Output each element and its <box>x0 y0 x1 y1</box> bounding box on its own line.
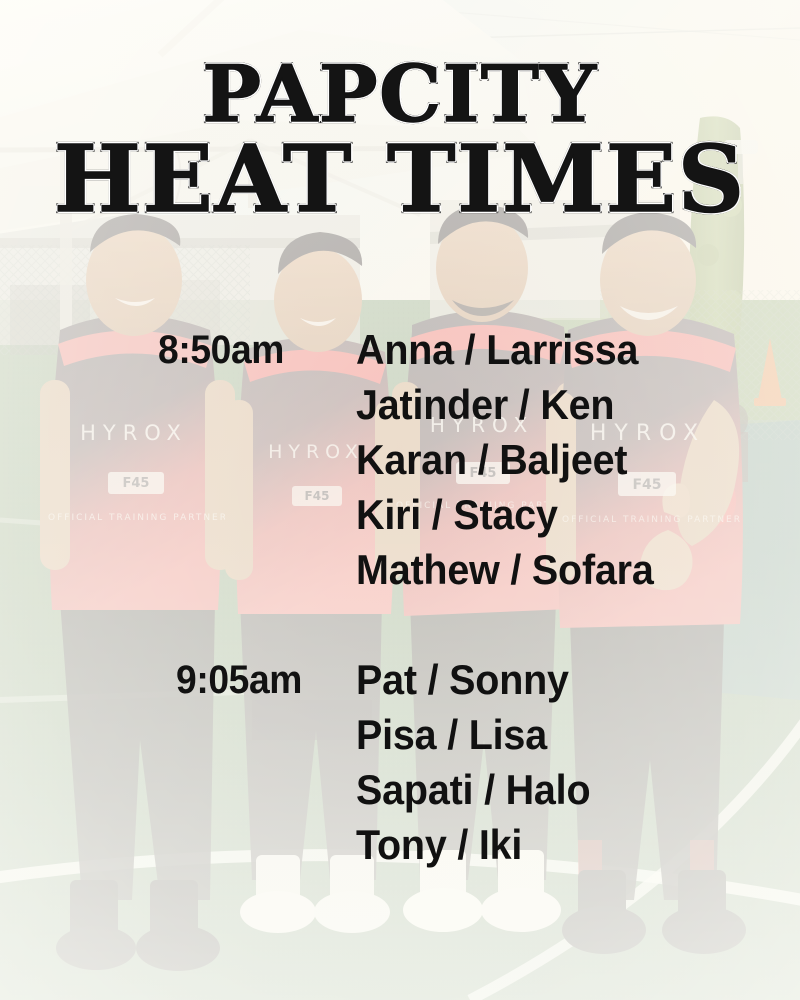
heat-1-time: 8:50am <box>158 328 284 373</box>
heat-2-pair-list: Pat / Sonny Pisa / Lisa Sapati / Halo To… <box>356 652 605 872</box>
heat-1-pair: Kiri / Stacy <box>356 487 654 542</box>
heat-1-pair: Jatinder / Ken <box>356 377 654 432</box>
heat-1-pair: Karan / Baljeet <box>356 432 654 487</box>
heat-2-pair: Tony / Iki <box>356 817 590 872</box>
heat-times-poster: HYROX F45 OFFICIAL TRAINING PARTNER HYRO… <box>0 0 800 1000</box>
heat-1-pair: Anna / Larrissa <box>356 322 654 377</box>
heat-2-time: 9:05am <box>176 658 302 703</box>
heat-2-pair: Sapati / Halo <box>356 762 590 817</box>
heat-2-pair: Pisa / Lisa <box>356 707 590 762</box>
heat-schedule: 8:50am Anna / Larrissa Jatinder / Ken Ka… <box>0 0 800 1000</box>
heat-2-pair: Pat / Sonny <box>356 652 590 707</box>
heat-1-pair: Mathew / Sofara <box>356 542 654 597</box>
heat-1-pair-list: Anna / Larrissa Jatinder / Ken Karan / B… <box>356 322 673 597</box>
